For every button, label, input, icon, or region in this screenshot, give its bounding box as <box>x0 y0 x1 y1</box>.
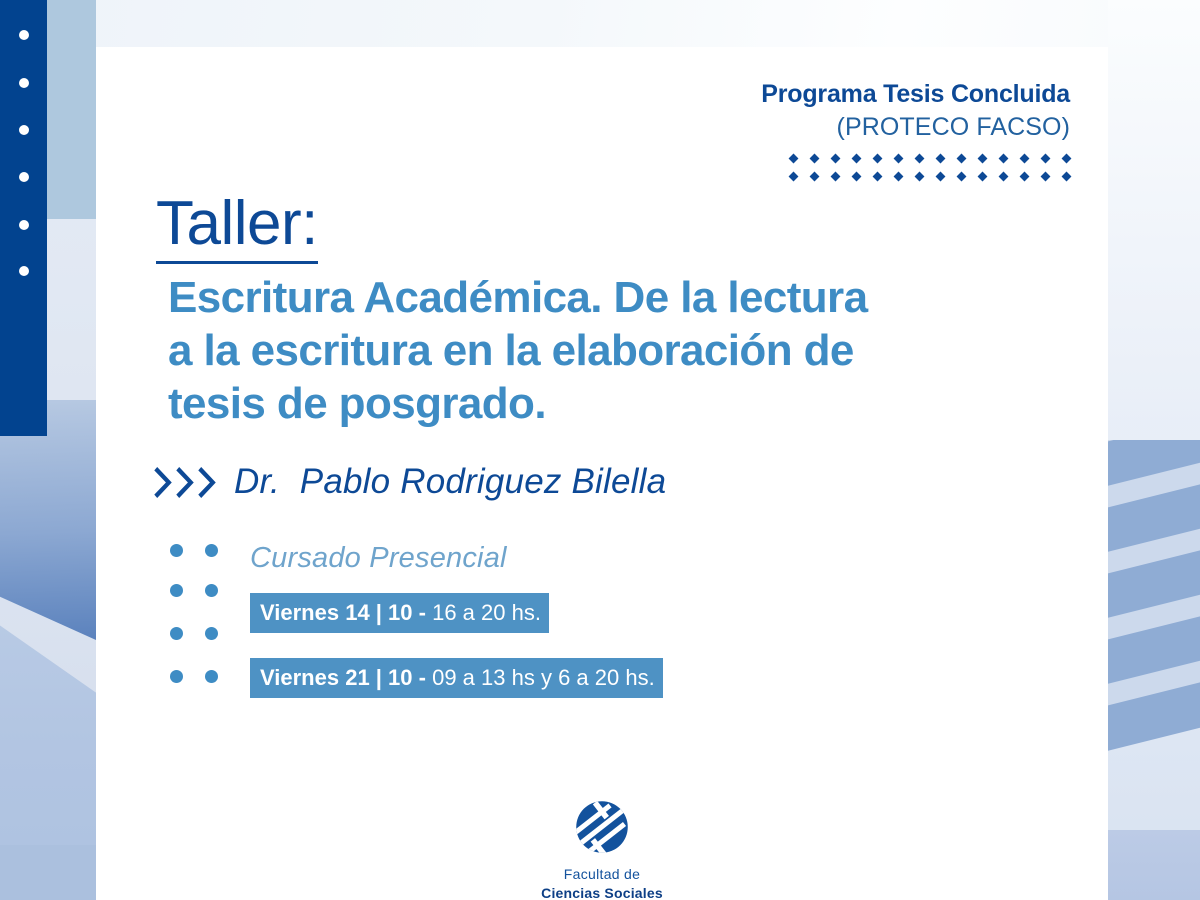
schedule-dot <box>205 627 218 640</box>
schedule-dot-grid <box>170 544 226 699</box>
navy-sidebar-dot <box>19 172 29 182</box>
eyebrow-label: Taller: <box>156 193 318 264</box>
diamond-icon <box>1041 172 1051 182</box>
diamond-icon <box>999 154 1009 164</box>
top-band <box>0 0 1200 47</box>
page-title-line-2: a la escritura en la elaboración de <box>168 325 928 378</box>
diamond-icon <box>957 154 967 164</box>
navy-sidebar-dot <box>19 220 29 230</box>
diamond-icon <box>978 154 988 164</box>
schedule-dot <box>170 670 183 683</box>
chevron-right-glyph <box>176 466 196 499</box>
content-card: Programa Tesis Concluida (PROTECO FACSO)… <box>96 47 1108 900</box>
diamond-icon <box>894 154 904 164</box>
diamond-icon <box>852 154 862 164</box>
schedule-modality: Cursado Presencial <box>250 544 810 573</box>
diamond-icon <box>894 172 904 182</box>
diamond-icon <box>873 172 883 182</box>
diamond-row <box>790 173 1070 180</box>
navy-sidebar-dot <box>19 30 29 40</box>
page-title-line-3: tesis de posgrado. <box>168 378 928 431</box>
diamond-pattern <box>430 155 1070 180</box>
session-1-time: 16 a 20 hs. <box>432 600 541 625</box>
right-bottom-fill <box>1108 830 1200 900</box>
diamond-icon <box>915 154 925 164</box>
diamond-icon <box>831 154 841 164</box>
diamond-icon <box>789 154 799 164</box>
right-diagonal-stripes <box>1108 440 1200 860</box>
diamond-icon <box>936 154 946 164</box>
schedule-dot <box>205 584 218 597</box>
diamond-icon <box>810 172 820 182</box>
program-header: Programa Tesis Concluida (PROTECO FACSO) <box>430 80 1070 180</box>
eyebrow-wrapper: Taller: <box>156 193 318 264</box>
page-title-line-1: Escritura Académica. De la lectura <box>168 272 928 325</box>
schedule-dot <box>170 544 183 557</box>
schedule-content: Cursado Presencial Viernes 14 | 10 - 16 … <box>250 544 810 698</box>
schedule-dot <box>170 627 183 640</box>
diamond-icon <box>915 172 925 182</box>
diamond-icon <box>789 172 799 182</box>
program-title: Programa Tesis Concluida <box>430 80 1070 108</box>
navy-sidebar-dot <box>19 78 29 88</box>
schedule-session-1: Viernes 14 | 10 - 16 a 20 hs. <box>250 593 549 633</box>
schedule-session-2: Viernes 21 | 10 - 09 a 13 hs y 6 a 20 hs… <box>250 658 663 698</box>
diamond-row <box>790 155 1070 162</box>
left-lower-tail <box>0 845 96 900</box>
diamond-icon <box>831 172 841 182</box>
diamond-icon <box>852 172 862 182</box>
speaker-name: Dr. Pablo Rodriguez Bilella <box>234 462 666 502</box>
schedule-dot <box>170 584 183 597</box>
footer-branding: Facultad de Ciencias Sociales <box>96 799 1108 900</box>
logo-text-line-2: Ciencias Sociales <box>541 885 663 900</box>
schedule-block: Cursado Presencial Viernes 14 | 10 - 16 … <box>170 544 810 698</box>
facultad-logo-icon <box>574 799 630 855</box>
session-1-date: Viernes 14 | 10 - <box>260 600 432 625</box>
schedule-dot <box>205 670 218 683</box>
schedule-dot <box>205 544 218 557</box>
session-2-time: 09 a 13 hs y 6 a 20 hs. <box>432 665 655 690</box>
diamond-icon <box>978 172 988 182</box>
navy-sidebar-dot <box>19 125 29 135</box>
diamond-icon <box>873 154 883 164</box>
diamond-icon <box>810 154 820 164</box>
poster-canvas: Programa Tesis Concluida (PROTECO FACSO)… <box>0 0 1200 900</box>
diamond-icon <box>999 172 1009 182</box>
diamond-icon <box>1041 154 1051 164</box>
session-2-date: Viernes 21 | 10 - <box>260 665 432 690</box>
speaker-row: Dr. Pablo Rodriguez Bilella <box>154 462 666 502</box>
chevron-right-glyph <box>154 466 174 499</box>
diamond-icon <box>1020 154 1030 164</box>
diamond-icon <box>957 172 967 182</box>
page-title: Escritura Académica. De la lectura a la … <box>168 272 928 430</box>
navy-sidebar <box>0 0 47 436</box>
diamond-icon <box>1062 172 1072 182</box>
diamond-icon <box>1062 154 1072 164</box>
program-subtitle: (PROTECO FACSO) <box>430 112 1070 143</box>
chevron-right-icon <box>154 466 218 499</box>
navy-sidebar-dot <box>19 266 29 276</box>
logo-text-line-1: Facultad de <box>564 866 640 882</box>
diamond-icon <box>936 172 946 182</box>
diamond-icon <box>1020 172 1030 182</box>
chevron-right-glyph <box>198 466 218 499</box>
